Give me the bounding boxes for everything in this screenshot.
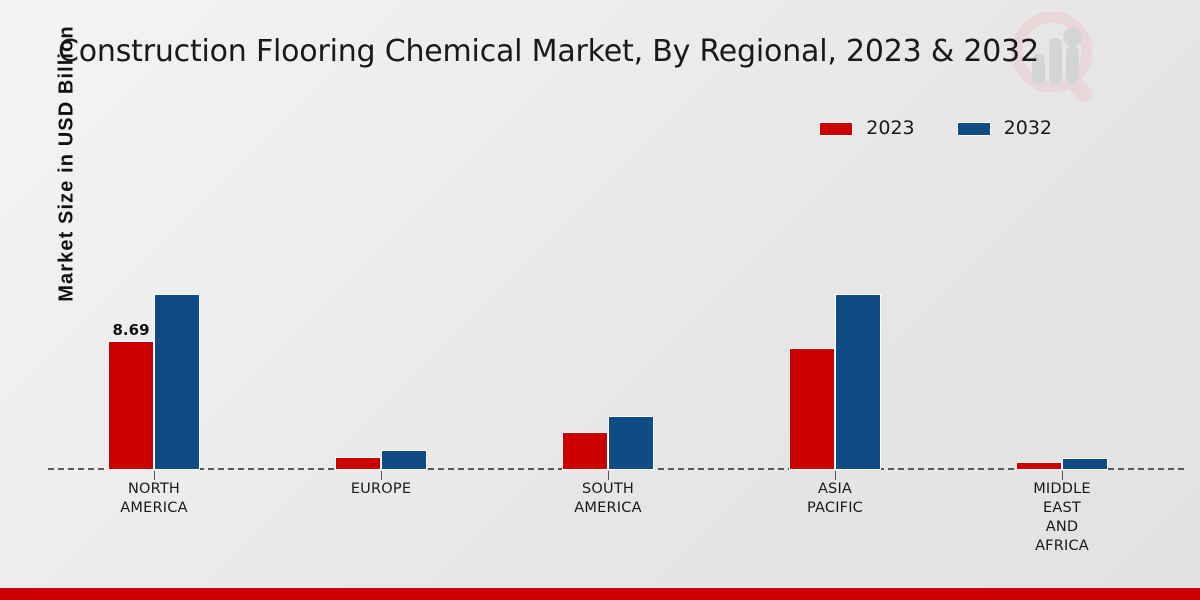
bar-2032-north-america[interactable] — [154, 294, 200, 470]
bar-group-north-america: 8.69 — [106, 160, 202, 470]
x-tick-middle-east-and-africa — [1062, 471, 1063, 480]
x-axis-label-line: AMERICA — [508, 499, 708, 518]
x-tick-south-america — [608, 471, 609, 480]
bar-value-label-north-america-2023: 8.69 — [112, 321, 149, 339]
x-axis-label-line: SOUTH — [508, 480, 708, 499]
x-axis-label-middle-east-and-africa: MIDDLE EAST AND AFRICA — [962, 480, 1162, 556]
chart-figure: Construction Flooring Chemical Market, B… — [0, 0, 1200, 600]
x-axis-label-line: EAST — [962, 499, 1162, 518]
bar-2032-middle-east-and-africa[interactable] — [1062, 458, 1108, 470]
bottom-accent-bar — [0, 588, 1200, 600]
bar-2032-europe[interactable] — [381, 450, 427, 470]
x-axis-label-line: AFRICA — [962, 537, 1162, 556]
x-tick-europe — [381, 471, 382, 480]
x-axis-label-line: NORTH — [54, 480, 254, 499]
legend-label-2032: 2032 — [1004, 119, 1052, 138]
x-axis-label-north-america: NORTH AMERICA — [54, 480, 254, 518]
bar-2023-asia-pacific[interactable] — [789, 348, 835, 470]
x-axis-label-line: EUROPE — [281, 480, 481, 499]
x-axis-label-asia-pacific: ASIA PACIFIC — [735, 480, 935, 518]
bar-2023-middle-east-and-africa[interactable] — [1016, 462, 1062, 470]
chart-title: Construction Flooring Chemical Market, B… — [58, 34, 1068, 69]
legend-label-2023: 2023 — [866, 119, 914, 138]
x-axis-label-europe: EUROPE — [281, 480, 481, 499]
x-axis-label-line: ASIA — [735, 480, 935, 499]
x-axis-label-line: MIDDLE — [962, 480, 1162, 499]
bar-2032-south-america[interactable] — [608, 416, 654, 470]
bar-2023-europe[interactable] — [335, 457, 381, 470]
bar-group-middle-east-and-africa — [1014, 160, 1110, 470]
bar-group-south-america — [560, 160, 656, 470]
bar-2023-north-america[interactable]: 8.69 — [108, 341, 154, 470]
plot-area: 8.69 — [48, 160, 1184, 470]
bar-2023-south-america[interactable] — [562, 432, 608, 470]
legend-swatch-2023 — [819, 122, 853, 136]
x-tick-asia-pacific — [835, 471, 836, 480]
legend-item-2032[interactable]: 2032 — [957, 119, 1052, 138]
legend-item-2023[interactable]: 2023 — [819, 119, 914, 138]
x-axis-label-line: PACIFIC — [735, 499, 935, 518]
bar-group-asia-pacific — [787, 160, 883, 470]
bar-group-europe — [333, 160, 429, 470]
bar-2032-asia-pacific[interactable] — [835, 294, 881, 470]
x-axis-label-south-america: SOUTH AMERICA — [508, 480, 708, 518]
x-tick-north-america — [154, 471, 155, 480]
legend-swatch-2032 — [957, 122, 991, 136]
chart-legend: 2023 2032 — [819, 119, 1052, 138]
x-axis-label-line: AND — [962, 518, 1162, 537]
x-axis-label-line: AMERICA — [54, 499, 254, 518]
